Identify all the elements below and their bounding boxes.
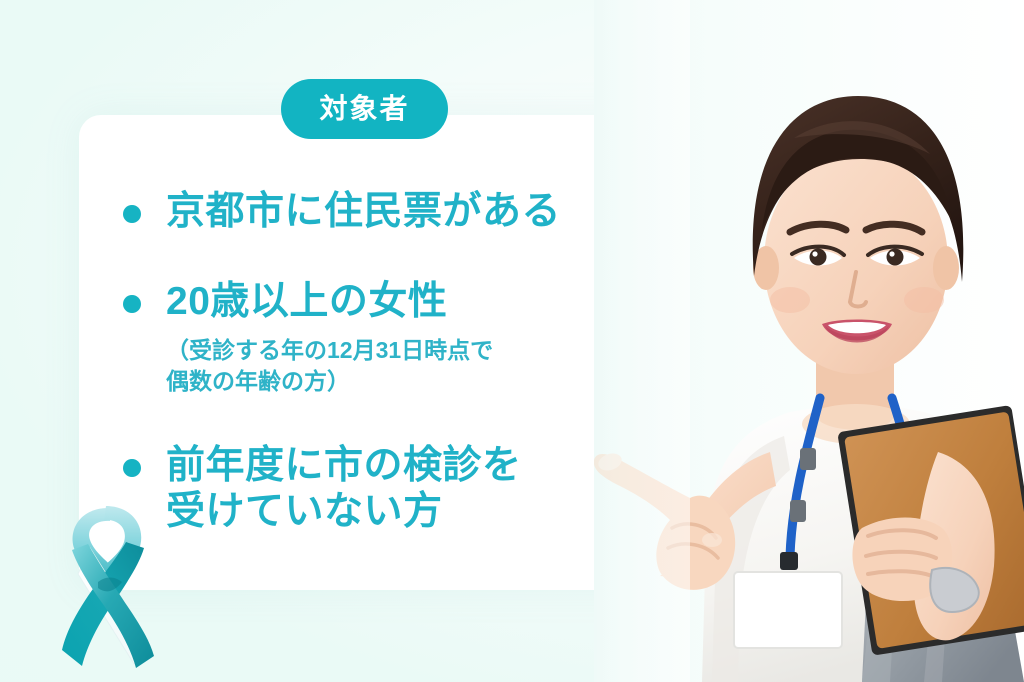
criteria-item-body: 20歳以上の女性 <box>166 279 447 325</box>
criteria-item-body: 前年度に市の検診を 受けていない方 <box>166 443 522 535</box>
criteria-list: 京都市に住民票がある 20歳以上の女性 （受診する年の12月31日時点で 偶数の… <box>79 115 648 590</box>
poster-canvas: 対象者 京都市に住民票がある 20歳以上の女性 （受診する年の12月31日時点で… <box>0 0 1024 682</box>
criteria-item-residence: 京都市に住民票がある <box>79 189 648 235</box>
bullet-dot-icon <box>123 205 141 223</box>
criteria-line: 京都市に住民票がある <box>166 189 561 235</box>
awareness-ribbon-icon <box>52 490 162 670</box>
criteria-note: （受診する年の12月31日時点で 偶数の年齢の方） <box>166 335 648 397</box>
presenter-photo <box>594 0 1024 682</box>
criteria-item-age-and-sex: 20歳以上の女性 <box>79 279 648 325</box>
bullet-dot-icon <box>123 295 141 313</box>
criteria-line: 前年度に市の検診を <box>166 443 522 489</box>
criteria-item-no-screening-last-year: 前年度に市の検診を 受けていない方 <box>79 443 648 535</box>
criteria-note-line: （受診する年の12月31日時点で <box>166 335 648 366</box>
bullet-dot-icon <box>123 459 141 477</box>
criteria-note-line: 偶数の年齢の方） <box>166 366 648 397</box>
criteria-line: 受けていない方 <box>166 489 522 535</box>
criteria-line: 20歳以上の女性 <box>166 279 447 325</box>
criteria-item-body: 京都市に住民票がある <box>166 189 561 235</box>
